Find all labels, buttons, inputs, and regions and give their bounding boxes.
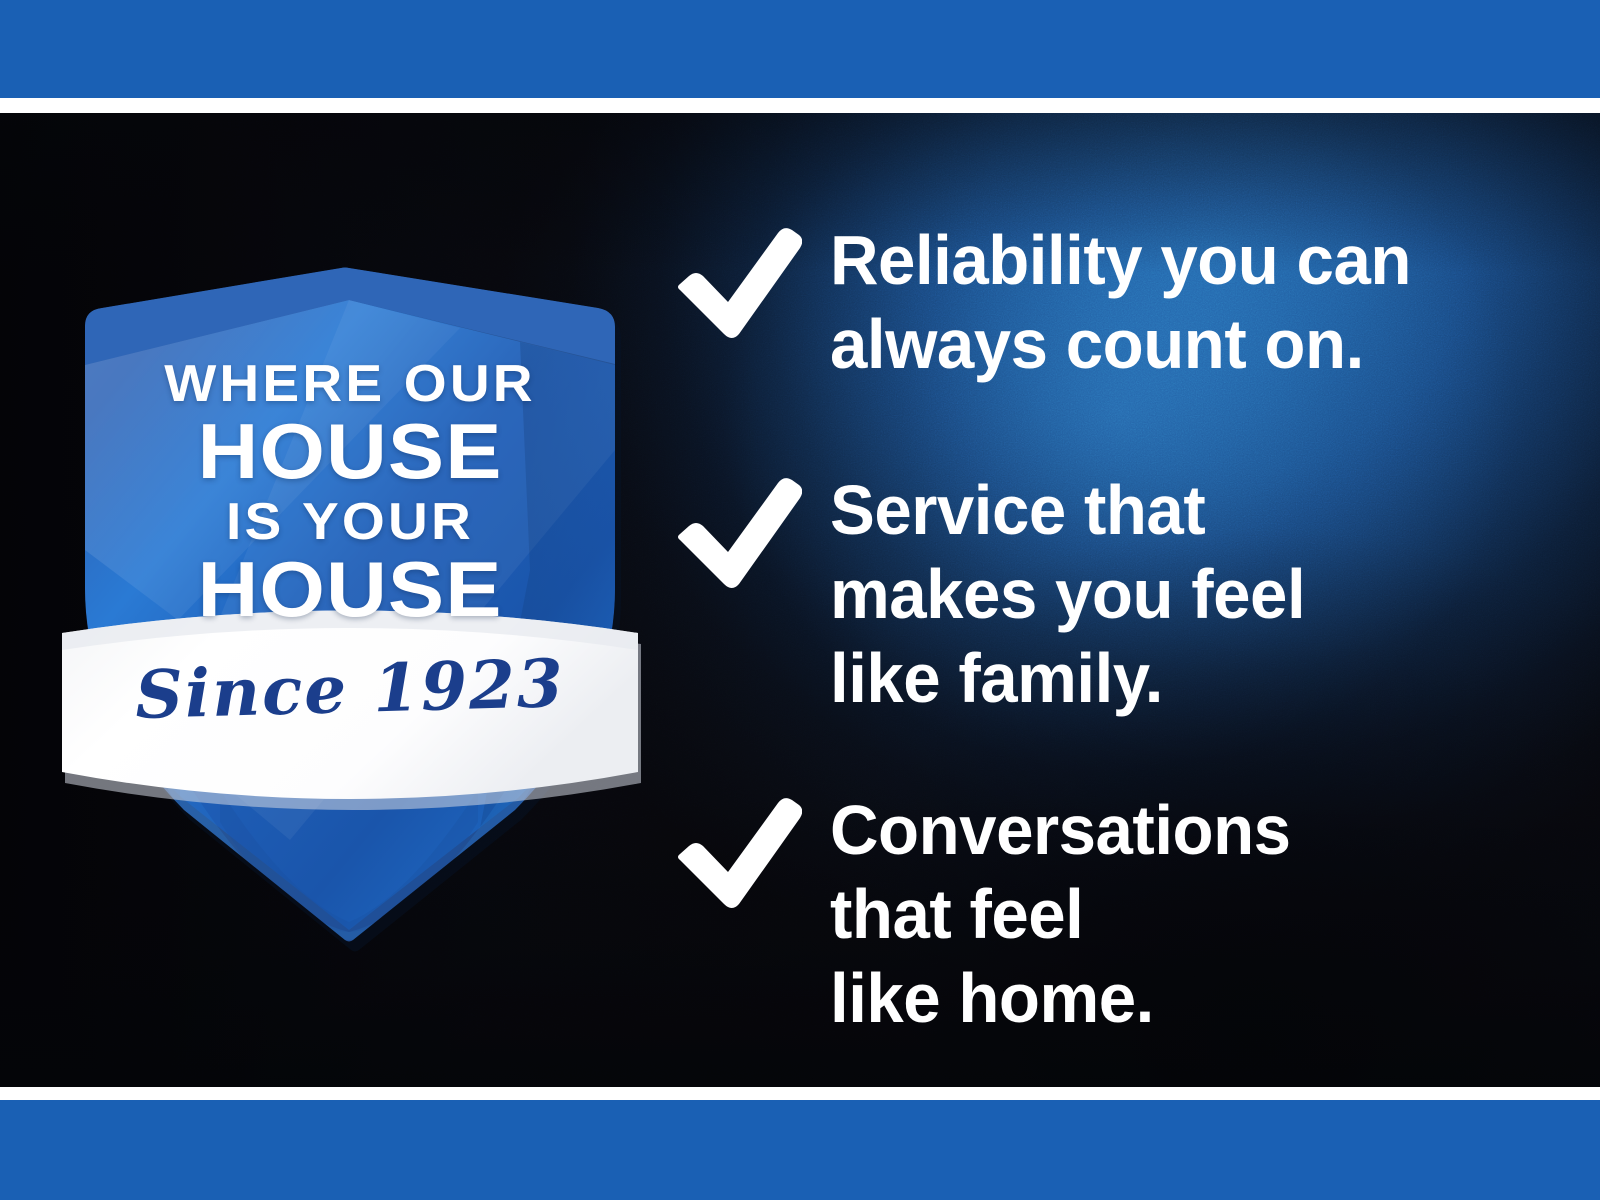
list-item: Service that makes you feel like family. bbox=[672, 468, 1325, 720]
banner-graphic: WHERE OUR HOUSE IS YOUR HOUSE Since 1923… bbox=[0, 0, 1600, 1200]
list-item-label: Conversations that feel like home. bbox=[830, 788, 1291, 1040]
list-item: Conversations that feel like home. bbox=[672, 788, 1310, 1040]
shield-ribbon bbox=[62, 611, 641, 811]
top-white-rule bbox=[0, 98, 1600, 113]
list-item: Reliability you can always count on. bbox=[672, 218, 1435, 386]
check-icon bbox=[672, 222, 802, 340]
check-icon bbox=[672, 792, 802, 910]
top-accent-bar bbox=[0, 0, 1600, 98]
shield-badge: WHERE OUR HOUSE IS YOUR HOUSE Since 1923 bbox=[60, 150, 640, 850]
benefits-list: Reliability you can always count on. Ser… bbox=[672, 113, 1552, 1087]
list-item-label: Reliability you can always count on. bbox=[830, 218, 1411, 386]
bottom-white-rule bbox=[0, 1087, 1600, 1100]
check-icon bbox=[672, 472, 802, 590]
bottom-accent-bar bbox=[0, 1100, 1600, 1200]
list-item-label: Service that makes you feel like family. bbox=[830, 468, 1305, 720]
shield-artwork bbox=[60, 150, 640, 850]
